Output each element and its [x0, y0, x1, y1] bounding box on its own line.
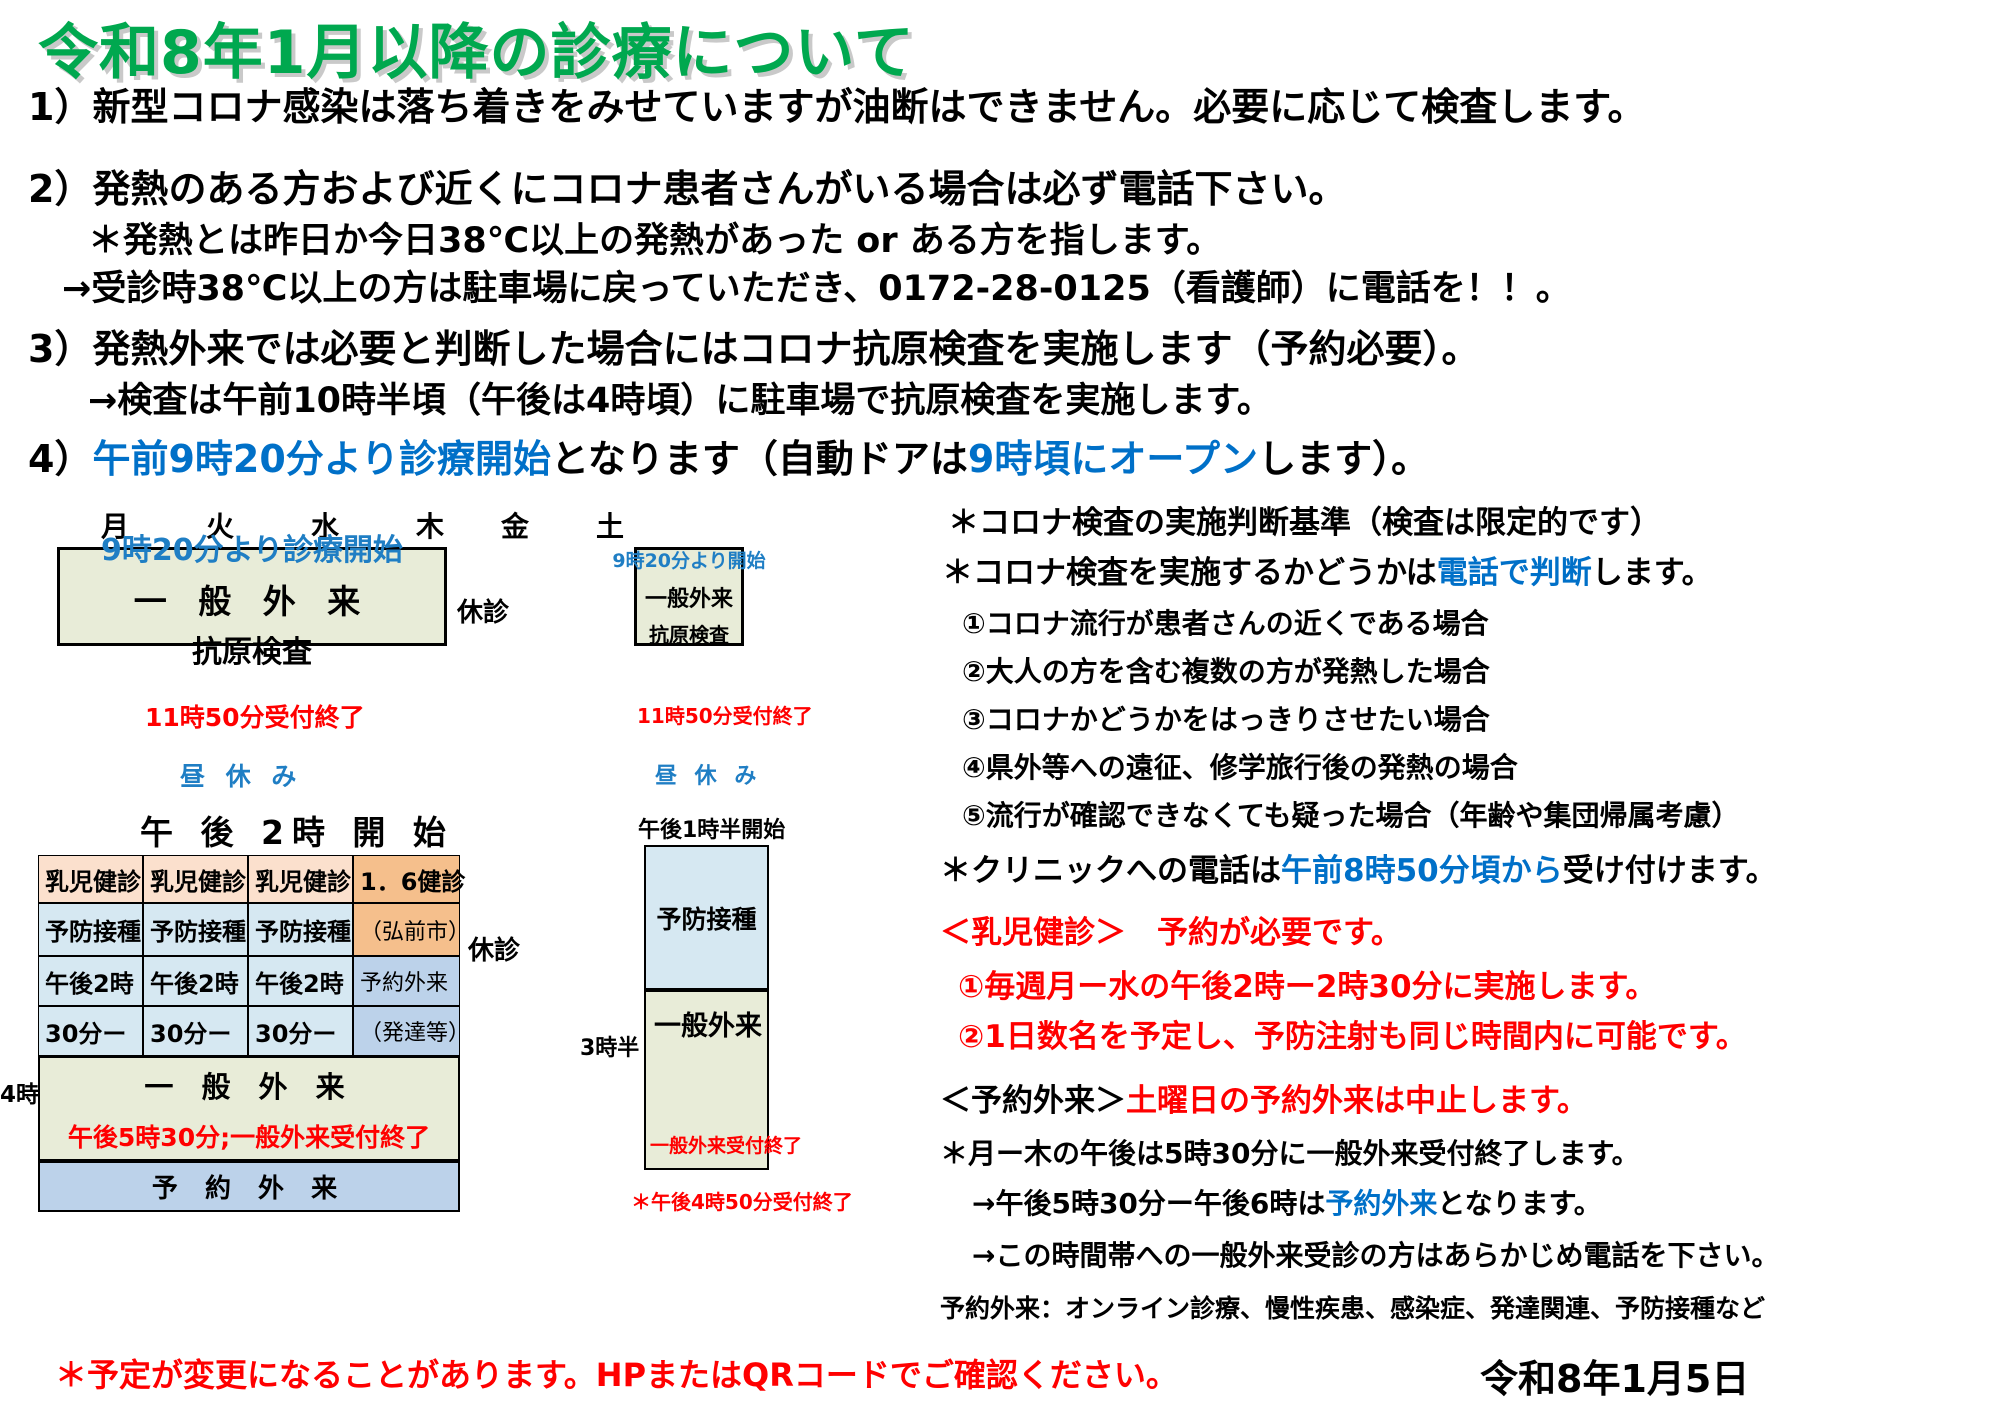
right-criteria-item-3: ③コロナかどうかをはっきりさせたい場合 — [962, 706, 1490, 734]
afternoon-cell-reserve-thu: 予約外来 — [353, 956, 460, 1006]
footer-note: ＊予定が変更になることがあります。HPまたはQRコードでご確認ください。 — [55, 1350, 1178, 1396]
friday-closed-morning: 休診 — [457, 592, 509, 629]
intro-line-4-blue-1: 午前9時20分より診療開始 — [92, 437, 551, 481]
right-kenshin-heading: ＜乳児健診＞ 予約が必要です。 — [940, 918, 1402, 949]
saturday-time-marker-3ji-han: 3時半 — [580, 1030, 639, 1062]
right-kenshin-item-2: ②1日数名を予定し、予防注射も同じ時間内に可能です。 — [958, 1022, 1747, 1053]
right-note-3: →この時間帯への一般外来受診の方はあらかじめ電話を下さい。 — [972, 1242, 1779, 1270]
lunch-break-weekday: 昼 休 み — [180, 757, 302, 793]
saturday-morning-start: 9時20分より開始 — [612, 546, 765, 573]
right-note2-part-c: となります。 — [1437, 1187, 1601, 1220]
right-yoyaku-head-black: ＜予約外来＞ — [940, 1083, 1126, 1119]
morning-saturday-box: 9時20分より開始 一般外来 抗原検査 — [634, 547, 744, 646]
day-label-thursday: 木 — [400, 505, 460, 545]
right-criteria-item-4: ④県外等への遠征、修学旅行後の発熱の場合 — [962, 754, 1518, 782]
footer-date: 令和8年1月5日 — [1480, 1348, 1749, 1403]
saturday-morning-reception-end: 11時50分受付終了 — [637, 700, 813, 729]
saturday-vaccine-label: 予防接種 — [656, 900, 756, 936]
saturday-general-end: 一般外来受付終了 — [650, 1131, 802, 1158]
saturday-general-label: 一般外来 — [654, 1004, 762, 1043]
afternoon-cell-time1-tue: 午後2時 — [143, 956, 248, 1006]
right-h2-part-b: 電話で判断 — [1437, 555, 1592, 591]
afternoon-cell-time2-wed: 30分ー — [248, 1006, 353, 1056]
afternoon-cell-time2-tue: 30分ー — [143, 1006, 248, 1056]
right-phone-part-a: ＊クリニックへの電話は — [940, 853, 1281, 889]
right-phone-part-b: 午前8時50分頃から — [1281, 853, 1563, 889]
afternoon-cell-kenshin-mon: 乳児健診 — [38, 855, 143, 903]
day-label-saturday: 土 — [580, 505, 640, 545]
lunch-break-saturday: 昼 休 み — [655, 758, 761, 790]
afternoon-cell-vaccine-tue: 予防接種 — [143, 903, 248, 956]
afternoon-start-saturday: 午後1時半開始 — [638, 812, 785, 844]
afternoon-general-band: 一 般 外 来 午後5時30分;一般外来受付終了 — [38, 1056, 460, 1161]
right-kenshin-item-1: ①毎週月ー水の午後2時ー2時30分に実施します。 — [958, 972, 1656, 1003]
afternoon-cell-time2-mon: 30分ー — [38, 1006, 143, 1056]
afternoon-cell-time1-wed: 午後2時 — [248, 956, 353, 1006]
afternoon-cell-kenshin-wed: 乳児健診 — [248, 855, 353, 903]
time-marker-4ji: 4時 — [0, 1075, 39, 1109]
morning-antigen-test: 抗原検査 — [192, 627, 312, 671]
intro-line-3: 3）発熱外来では必要と判断した場合にはコロナ抗原検査を実施します（予約必要）。 — [28, 330, 1479, 368]
right-phone-hours: ＊クリニックへの電話は午前8時50分頃から受け付けます。 — [940, 856, 1777, 887]
right-phone-part-c: 受け付けます。 — [1563, 853, 1777, 889]
afternoon-cell-time1-mon: 午後2時 — [38, 956, 143, 1006]
afternoon-cell-city-thu: （弘前市） — [353, 903, 460, 956]
right-yoyaku-head-red: 土曜日の予約外来は中止します。 — [1126, 1083, 1588, 1119]
friday-closed-afternoon: 休診 — [468, 930, 520, 967]
intro-line-1: 1）新型コロナ感染は落ち着きをみせていますが油断はできません。必要に応じて検査し… — [28, 88, 1646, 126]
intro-line-4-number: 4） — [28, 437, 92, 481]
page-title: 令和8年1月以降の診療について — [38, 4, 915, 91]
right-heading-phone-judgement: ＊コロナ検査を実施するかどうかは電話で判断します。 — [942, 558, 1713, 589]
right-note-1: ＊月ー木の午後は5時30分に一般外来受付終了します。 — [940, 1140, 1640, 1168]
morning-start-time: 9時20分より診療開始 — [101, 525, 403, 569]
afternoon-cell-kenshin-thu: 1．6健診 — [353, 855, 460, 903]
morning-weekday-box: 9時20分より診療開始 一 般 外 来 抗原検査 — [57, 547, 447, 646]
saturday-morning-general: 一般外来 — [645, 581, 733, 613]
saturday-afternoon-note: ＊午後4時50分受付終了 — [631, 1186, 853, 1215]
saturday-afternoon-vaccine-box: 予防接種 — [644, 845, 769, 990]
right-criteria-item-1: ①コロナ流行が患者さんの近くである場合 — [962, 610, 1489, 638]
right-criteria-item-2: ②大人の方を含む複数の方が発熱した場合 — [962, 658, 1490, 686]
afternoon-general-label: 一 般 外 来 — [144, 1064, 353, 1106]
afternoon-start-weekday: 午 後 2時 開 始 — [140, 806, 454, 854]
intro-line-4: 4）午前9時20分より診療開始となります（自動ドアは9時頃にオープンします）。 — [28, 440, 1429, 478]
saturday-morning-antigen: 抗原検査 — [649, 619, 729, 648]
afternoon-cell-vaccine-wed: 予防接種 — [248, 903, 353, 956]
right-note-4: 予約外来：オンライン診療、慢性疾患、感染症、発達関連、予防接種など — [940, 1296, 1765, 1321]
intro-line-4-black-1: となります（自動ドアは — [551, 437, 968, 481]
intro-line-4-blue-2: 9時頃にオープン — [968, 437, 1258, 481]
saturday-afternoon-general-box: 一般外来 一般外来受付終了 — [644, 990, 769, 1170]
right-criteria-item-5: ⑤流行が確認できなくても疑った場合（年齢や集団帰属考慮） — [962, 802, 1739, 830]
right-note2-part-a: →午後5時30分ー午後6時は — [972, 1187, 1325, 1220]
afternoon-cell-kenshin-tue: 乳児健診 — [143, 855, 248, 903]
right-heading-criteria: ＊コロナ検査の実施判断基準（検査は限定的です） — [948, 508, 1661, 539]
afternoon-cell-hattatsu-thu: （発達等） — [353, 1006, 460, 1056]
afternoon-reserve-band: 予 約 外 来 — [38, 1161, 460, 1212]
right-note-2: →午後5時30分ー午後6時は予約外来となります。 — [972, 1190, 1602, 1218]
afternoon-cell-vaccine-mon: 予防接種 — [38, 903, 143, 956]
day-label-friday: 金 — [485, 505, 545, 545]
intro-line-3a: →検査は午前10時半頃（午後は4時頃）に駐車場で抗原検査を実施します。 — [88, 384, 1272, 419]
afternoon-general-end: 午後5時30分;一般外来受付終了 — [68, 1118, 430, 1154]
intro-line-2a: ＊発熱とは昨日か今日38℃以上の発熱があった or ある方を指します。 — [88, 224, 1221, 259]
intro-line-2b: →受診時38℃以上の方は駐車場に戻っていただき、0172-28-0125（看護師… — [62, 272, 1571, 307]
intro-line-2: 2）発熱のある方および近くにコロナ患者さんがいる場合は必ず電話下さい。 — [28, 170, 1346, 208]
morning-general-outpatient: 一 般 外 来 — [134, 575, 370, 623]
morning-reception-end: 11時50分受付終了 — [145, 698, 365, 734]
right-h2-part-c: します。 — [1592, 555, 1713, 591]
right-h2-part-a: ＊コロナ検査を実施するかどうかは — [942, 555, 1437, 591]
right-yoyaku-heading: ＜予約外来＞土曜日の予約外来は中止します。 — [940, 1086, 1588, 1117]
right-note2-part-b: 予約外来 — [1325, 1187, 1437, 1220]
intro-line-4-black-2: します）。 — [1258, 437, 1429, 481]
afternoon-reserve-label: 予 約 外 来 — [152, 1168, 346, 1205]
